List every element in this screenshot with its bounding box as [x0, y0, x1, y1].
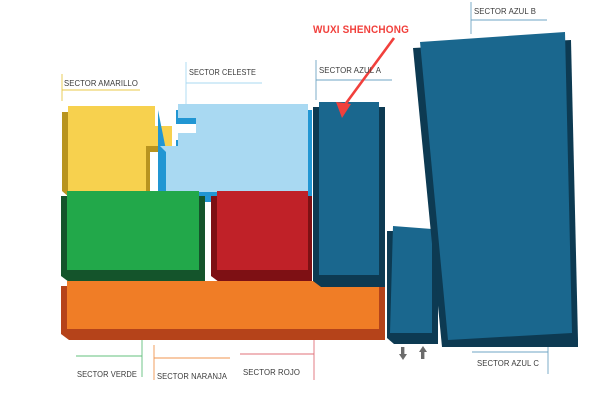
verde-face — [67, 191, 199, 270]
down-arrow-icon[interactable] — [399, 347, 407, 360]
up-arrow-icon[interactable] — [419, 346, 427, 359]
shape-sector-azul-a[interactable] — [313, 102, 385, 287]
label-sector-rojo: SECTOR ROJO — [243, 368, 300, 377]
label-sector-amarillo: SECTOR AMARILLO — [64, 79, 138, 88]
shape-sector-verde[interactable] — [61, 191, 205, 282]
shape-sector-azul-b[interactable] — [413, 32, 578, 347]
label-sector-azul-b: SECTOR AZUL B — [474, 7, 536, 16]
diagram-canvas: WUXI SHENCHONG SECTOR AMARILLO SECTOR CE… — [0, 0, 600, 400]
naranja-face — [67, 281, 379, 329]
shape-sector-azul-small[interactable] — [387, 226, 438, 344]
label-sector-celeste: SECTOR CELESTE — [189, 68, 256, 77]
label-sector-azul-c: SECTOR AZUL C — [477, 359, 539, 368]
label-sector-azul-a: SECTOR AZUL A — [319, 66, 381, 75]
label-sector-naranja: SECTOR NARANJA — [157, 372, 227, 381]
shape-sector-amarillo[interactable] — [62, 106, 172, 198]
shape-sector-naranja[interactable] — [61, 281, 385, 340]
label-sector-verde: SECTOR VERDE — [77, 370, 137, 379]
rojo-face — [217, 191, 308, 270]
celeste-face — [160, 104, 308, 192]
shape-sector-rojo[interactable] — [211, 191, 312, 282]
shape-sector-celeste[interactable] — [158, 104, 312, 202]
annotation-wuxi-shenchong: WUXI SHENCHONG — [313, 24, 409, 36]
celeste-notch-accent — [160, 146, 166, 198]
azul-small-face — [390, 226, 432, 333]
azul-a-face — [319, 102, 379, 275]
